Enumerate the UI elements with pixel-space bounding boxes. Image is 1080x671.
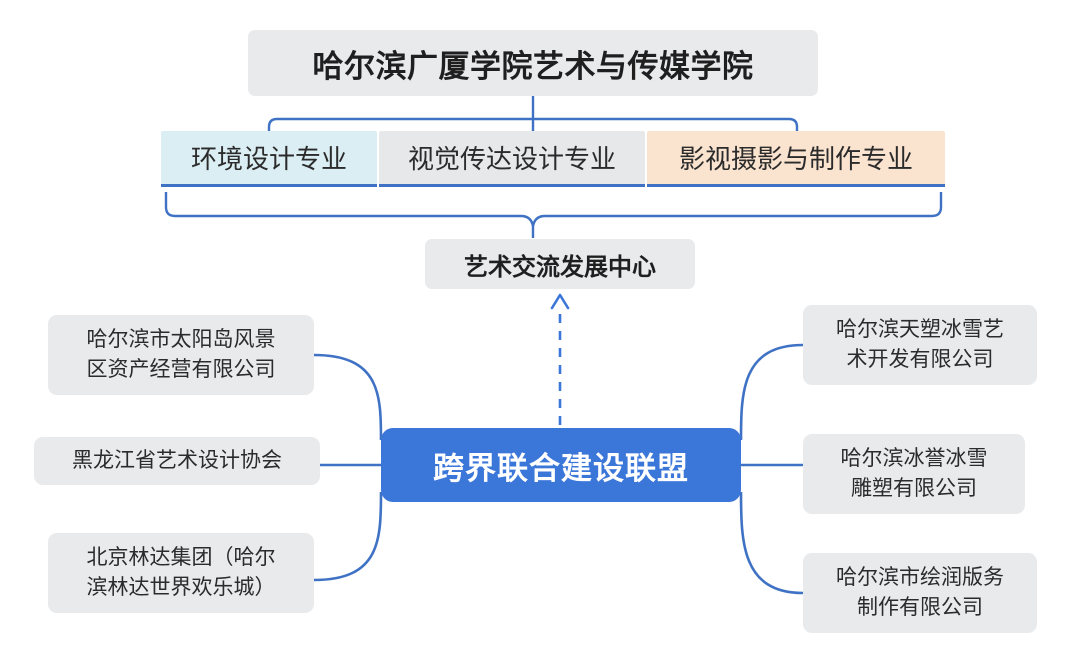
art-exchange-center-box[interactable]: 艺术交流发展中心: [425, 239, 695, 289]
partner-box-bingyu-ice-snow-sculpture[interactable]: 哈尔滨冰誉冰雪 雕塑有限公司: [803, 434, 1025, 514]
partner-label-bingyu-ice-snow-sculpture: 哈尔滨冰誉冰雪 雕塑有限公司: [817, 444, 1011, 504]
major-box-environment-design[interactable]: 环境设计专业: [161, 131, 377, 187]
major-box-visual-communication[interactable]: 视觉传达设计专业: [379, 131, 645, 187]
arrowhead-up: [552, 295, 568, 308]
partner-label-sun-island: 哈尔滨市太阳岛风景 区资产经营有限公司: [62, 325, 300, 385]
major-label-environment-design: 环境设计专业: [161, 139, 377, 176]
partner-box-huirun-plate-production[interactable]: 哈尔滨市绘润版务 制作有限公司: [803, 553, 1037, 633]
partner-label-heilongjiang-art-design-association: 黑龙江省艺术设计协会: [48, 446, 306, 476]
major-label-visual-communication: 视觉传达设计专业: [379, 139, 645, 176]
partner-box-tiansu-ice-snow-art[interactable]: 哈尔滨天塑冰雪艺 术开发有限公司: [803, 305, 1037, 385]
alliance-hub-label: 跨界联合建设联盟: [381, 443, 741, 488]
partner-label-huirun-plate-production: 哈尔滨市绘润版务 制作有限公司: [817, 563, 1023, 623]
connector-major-bus: [269, 119, 797, 131]
connector-left-3: [314, 492, 381, 580]
partner-label-beijing-linda-group: 北京林达集团（哈尔 滨林达世界欢乐城）: [62, 543, 300, 603]
connector-right-3: [741, 492, 803, 593]
partner-box-heilongjiang-art-design-association[interactable]: 黑龙江省艺术设计协会: [34, 437, 320, 485]
art-exchange-center-label: 艺术交流发展中心: [425, 247, 695, 282]
major-box-film-production[interactable]: 影视摄影与制作专业: [647, 131, 945, 187]
alliance-hub-box[interactable]: 跨界联合建设联盟: [381, 428, 741, 502]
diagram-canvas: 哈尔滨广厦学院艺术与传媒学院 环境设计专业 视觉传达设计专业 影视摄影与制作专业…: [0, 0, 1080, 671]
college-title-box[interactable]: 哈尔滨广厦学院艺术与传媒学院: [248, 30, 818, 96]
major-label-film-production: 影视摄影与制作专业: [647, 139, 945, 176]
partner-box-beijing-linda-group[interactable]: 北京林达集团（哈尔 滨林达世界欢乐城）: [48, 533, 314, 613]
connector-brace-right: [533, 192, 941, 226]
college-title-label: 哈尔滨广厦学院艺术与传媒学院: [248, 41, 818, 86]
connector-brace-left: [166, 192, 533, 226]
connector-right-1: [741, 345, 803, 440]
connector-left-1: [314, 355, 381, 440]
partner-label-tiansu-ice-snow-art: 哈尔滨天塑冰雪艺 术开发有限公司: [817, 315, 1023, 375]
partner-box-sun-island[interactable]: 哈尔滨市太阳岛风景 区资产经营有限公司: [48, 315, 314, 395]
